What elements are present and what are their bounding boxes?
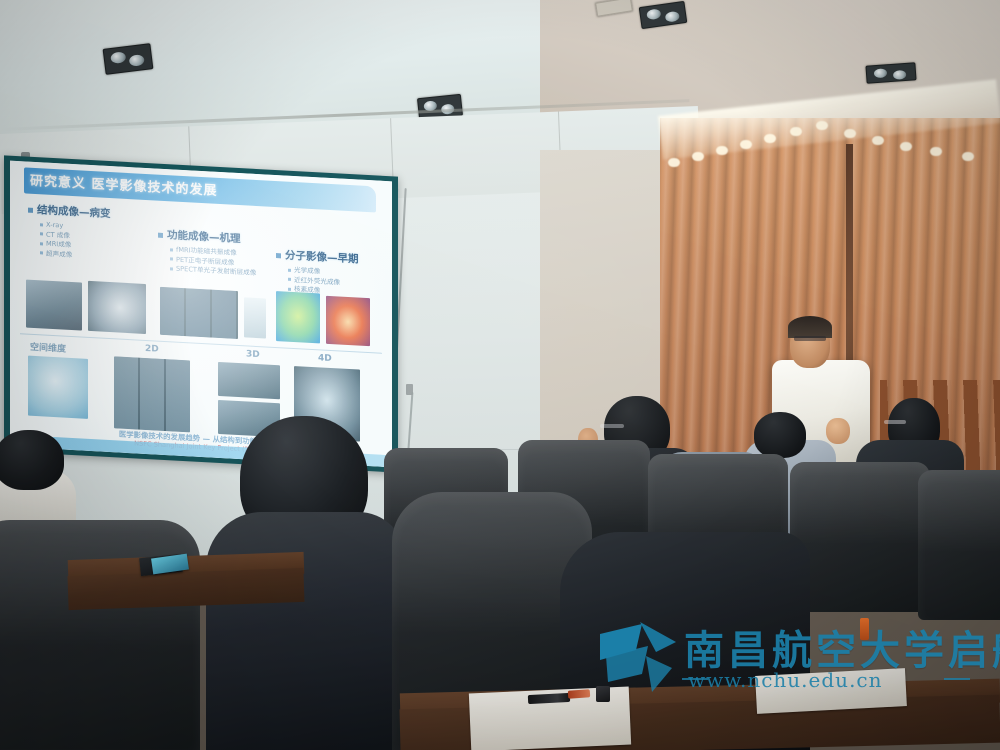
column-heading: 结构成像—病变	[28, 202, 111, 221]
dimension-header-2d: 2D	[145, 344, 159, 355]
stamp-tool	[596, 686, 610, 702]
curtain-hook	[844, 129, 856, 138]
ceiling-lamp-5	[865, 62, 916, 83]
bullet-icon	[40, 242, 43, 245]
bullet-icon	[288, 278, 291, 281]
slide-thumbnail-spect	[244, 297, 266, 338]
slide-column-structural: 结构成像—病变 X-ray CT 成像 MRI成像 超声成像	[28, 202, 111, 263]
audience-glasses-icon	[600, 424, 624, 428]
column-subitems: fMRI功能磁共振成像 PET正电子断层成像 SPECT单光子发射断层成像	[170, 245, 256, 278]
red-pen	[568, 689, 591, 699]
bullet-icon	[276, 253, 281, 258]
bullet-icon	[288, 287, 291, 290]
curtain-hook	[816, 121, 828, 130]
column-heading: 功能成像—机理	[158, 227, 256, 247]
slide-thumbnail-3d-vessels-top	[218, 362, 280, 399]
curtain-hook	[764, 134, 776, 143]
slide-thumbnail-xray	[26, 280, 82, 331]
audience-body-foreground	[206, 512, 406, 750]
bullet-icon	[40, 251, 43, 254]
presentation-slide: 研究意义 医学影像技术的发展 结构成像—病变 X-ray CT 成像 MRI成像…	[10, 161, 392, 468]
audience-head	[0, 430, 64, 490]
notebook	[755, 668, 907, 714]
slide-column-functional: 功能成像—机理 fMRI功能磁共振成像 PET正电子断层成像 SPECT单光子发…	[158, 227, 256, 279]
curtain-hook	[930, 147, 942, 156]
audience-glasses-icon	[884, 420, 906, 424]
dimension-row-label: 空间维度	[30, 340, 66, 355]
bullet-icon	[40, 223, 43, 226]
slide-thumbnail-ct-slices	[114, 356, 190, 432]
bullet-icon	[170, 267, 173, 270]
slide-thumbnail-ct-head	[88, 281, 146, 334]
curtain-hook	[900, 142, 912, 151]
bullet-icon	[28, 207, 33, 212]
orange-marker	[860, 618, 869, 640]
bullet-icon	[170, 257, 173, 260]
slide-thumbnail-pet-green	[276, 291, 320, 343]
presenter-hair	[788, 316, 832, 338]
curtain-hook	[740, 140, 752, 149]
bullet-icon	[288, 268, 291, 271]
slide-thumbnail-fmri-grid	[160, 287, 238, 339]
slide-thumbnail-photographer	[28, 356, 88, 419]
curtain-hook	[790, 127, 802, 136]
chair	[918, 470, 1000, 620]
presenter-hand-gesture	[826, 418, 850, 444]
projection-screen: 研究意义 医学影像技术的发展 结构成像—病变 X-ray CT 成像 MRI成像…	[10, 161, 392, 468]
curtain-hook	[716, 146, 728, 155]
bullet-icon	[170, 248, 173, 251]
presenter-glasses-icon	[794, 336, 826, 341]
audience-head	[754, 412, 806, 458]
curtain-hook	[872, 136, 884, 145]
slide-column-molecular: 分子影像—早期 光学成像 近红外荧光成像 核素成像	[276, 247, 359, 298]
curtain-hook	[692, 152, 704, 161]
bullet-icon	[40, 232, 43, 235]
curtain-hook	[962, 152, 974, 161]
chair	[790, 462, 930, 612]
column-subitems: X-ray CT 成像 MRI成像 超声成像	[40, 220, 111, 262]
dimension-header-3d: 3D	[246, 349, 260, 360]
column-heading: 分子影像—早期	[276, 247, 359, 266]
curtain-hook	[668, 158, 680, 167]
dimension-header-4d: 4D	[318, 353, 332, 364]
photo-scene: 研究意义 医学影像技术的发展 结构成像—病变 X-ray CT 成像 MRI成像…	[0, 0, 1000, 750]
bullet-icon	[158, 232, 163, 237]
slide-thumbnail-nir-red	[326, 296, 370, 346]
